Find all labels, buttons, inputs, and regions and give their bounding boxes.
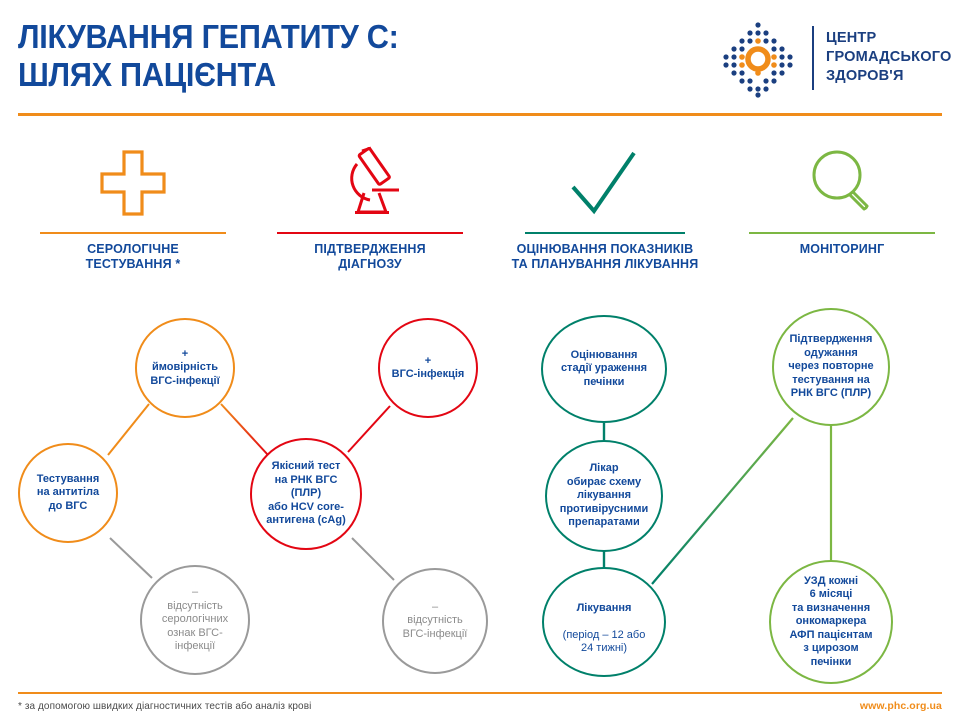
- node-rna-qualitative-test-label: Якісний тест на РНК ВГС (ПЛР) або HCV co…: [252, 460, 360, 527]
- node-ultrasound-monitoring-label: УЗД кожні 6 місяці та визначення онкомар…: [784, 575, 879, 669]
- microscope-icon: [270, 140, 470, 226]
- column-assessment-planning: ОЦІНЮВАННЯ ПОКАЗНИКІВ ТА ПЛАНУВАННЯ ЛІКУ…: [505, 140, 705, 272]
- node-treatment-duration-label: Лікування (період – 12 або 24 тижні): [557, 588, 652, 655]
- column-rule-3: [525, 232, 685, 234]
- node-liver-stage-assessment-label: Оцінювання стадії ураження печінки: [555, 349, 653, 389]
- column-rule-2: [277, 232, 463, 234]
- node-doctor-chooses-scheme[interactable]: Лікар обирає схему лікування противірусн…: [545, 440, 663, 552]
- node-antibody-testing-label: Тестування на антитіла до ВГС: [31, 473, 105, 513]
- column-monitoring: МОНІТОРИНГ: [742, 140, 942, 257]
- footnote-text: * за допомогою швидких діагностичних тес…: [18, 700, 311, 712]
- magnifier-icon: [742, 140, 942, 226]
- node-doctor-chooses-scheme-label: Лікар обирає схему лікування противірусн…: [554, 462, 655, 529]
- column-rule-1: [40, 232, 226, 234]
- website-link[interactable]: www.phc.org.ua: [860, 700, 942, 712]
- column-serological-testing: СЕРОЛОГІЧНЕ ТЕСТУВАННЯ *: [33, 140, 233, 272]
- node-treatment-period: (період – 12 або 24 тижні): [563, 629, 646, 654]
- node-no-serological-signs[interactable]: – відсутність серологічних ознак ВГС- ін…: [140, 565, 250, 675]
- node-recovery-confirmation-label: Підтвердження одужання через повторне те…: [782, 333, 879, 400]
- logo-wordmark: ЦЕНТР ГРОМАДСЬКОГО ЗДОРОВ'Я: [826, 28, 951, 85]
- column-caption-4: МОНІТОРИНГ: [742, 242, 942, 257]
- node-recovery-confirmation[interactable]: Підтвердження одужання через повторне те…: [772, 308, 890, 426]
- header-divider: [18, 113, 942, 116]
- column-diagnosis-confirmation: ПІДТВЕРДЖЕННЯ ДІАГНОЗУ: [270, 140, 470, 272]
- column-rule-4: [749, 232, 935, 234]
- node-hcv-infection-positive-label: + ВГС-інфекція: [386, 355, 471, 382]
- checkmark-icon: [505, 140, 705, 226]
- node-no-serological-signs-label: – відсутність серологічних ознак ВГС- ін…: [156, 586, 234, 653]
- plus-cross-icon: [33, 140, 233, 226]
- node-ultrasound-monitoring[interactable]: УЗД кожні 6 місяці та визначення онкомар…: [769, 560, 893, 684]
- column-caption-3: ОЦІНЮВАННЯ ПОКАЗНИКІВ ТА ПЛАНУВАННЯ ЛІКУ…: [505, 242, 705, 272]
- node-probability[interactable]: + ймовірність ВГС-інфекції: [135, 318, 235, 418]
- phc-dot-diamond-logo-icon: [716, 20, 800, 98]
- node-no-hcv-infection[interactable]: – відсутність ВГС-інфекції: [382, 568, 488, 674]
- node-liver-stage-assessment[interactable]: Оцінювання стадії ураження печінки: [541, 315, 667, 423]
- node-treatment-title: Лікування: [563, 602, 646, 615]
- column-caption-2: ПІДТВЕРДЖЕННЯ ДІАГНОЗУ: [270, 242, 470, 272]
- node-antibody-testing[interactable]: Тестування на антитіла до ВГС: [18, 443, 118, 543]
- node-rna-qualitative-test[interactable]: Якісний тест на РНК ВГС (ПЛР) або HCV co…: [250, 438, 362, 550]
- infographic-canvas: ЛІКУВАННЯ ГЕПАТИТУ С: ШЛЯХ ПАЦІЄНТА: [0, 0, 960, 720]
- node-probability-label: + ймовірність ВГС-інфекції: [144, 348, 225, 388]
- node-treatment-duration[interactable]: Лікування (період – 12 або 24 тижні): [542, 567, 666, 677]
- page-title: ЛІКУВАННЯ ГЕПАТИТУ С: ШЛЯХ ПАЦІЄНТА: [18, 18, 399, 94]
- node-hcv-infection-positive[interactable]: + ВГС-інфекція: [378, 318, 478, 418]
- page-header: ЛІКУВАННЯ ГЕПАТИТУ С: ШЛЯХ ПАЦІЄНТА: [0, 0, 960, 118]
- footer-divider: [18, 692, 942, 694]
- node-no-hcv-infection-label: – відсутність ВГС-інфекції: [397, 601, 474, 641]
- logo-divider: [812, 26, 814, 90]
- column-caption-1: СЕРОЛОГІЧНЕ ТЕСТУВАННЯ *: [33, 242, 233, 272]
- organization-logo: ЦЕНТР ГРОМАДСЬКОГО ЗДОРОВ'Я: [716, 20, 942, 98]
